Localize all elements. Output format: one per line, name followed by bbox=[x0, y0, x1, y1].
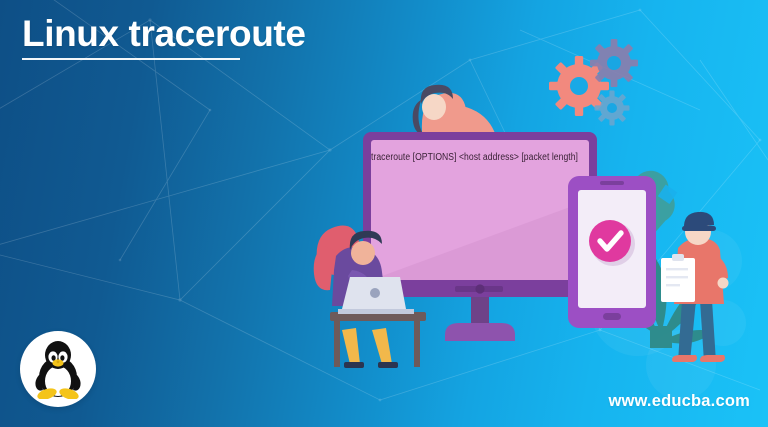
site-watermark: www.educba.com bbox=[608, 392, 750, 411]
gear-medium-mauve bbox=[590, 39, 638, 87]
hero-illustration bbox=[0, 0, 768, 427]
smartphone bbox=[568, 176, 656, 328]
gear-small-blue bbox=[595, 91, 630, 126]
linux-tux-penguin-badge bbox=[20, 331, 96, 407]
screenshot-canvas: Linux traceroute bbox=[0, 0, 768, 427]
monitor-command-text: traceroute [OPTIONS] <host address> [pac… bbox=[371, 150, 578, 162]
check-icon bbox=[589, 220, 631, 262]
tux-penguin-icon bbox=[30, 339, 86, 399]
